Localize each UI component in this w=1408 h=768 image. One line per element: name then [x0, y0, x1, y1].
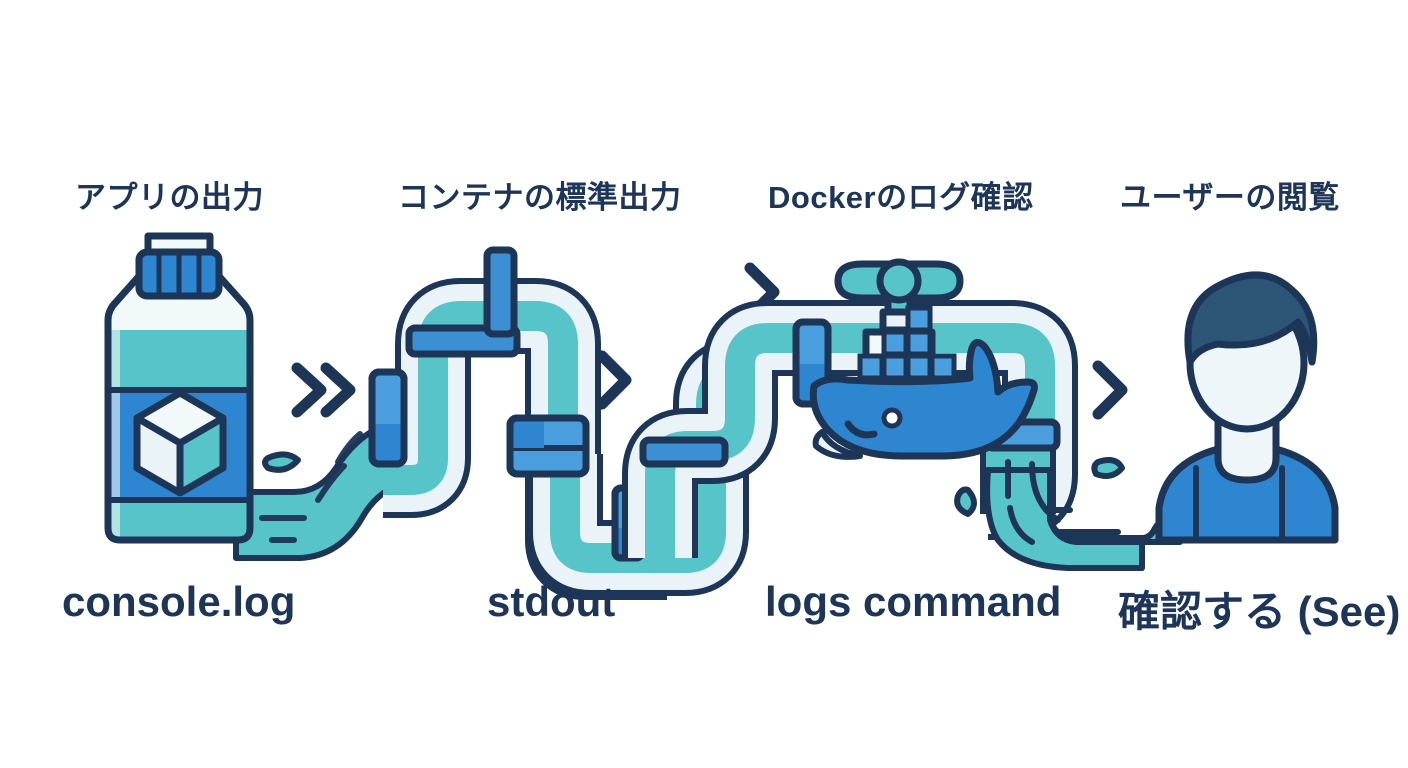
docker-whale-faucet-icon: [643, 262, 1180, 568]
bottle-cap-icon: [139, 252, 219, 296]
bottle-with-cube-icon: [100, 236, 388, 560]
pipe-joint: [644, 425, 724, 451]
diagram-canvas: アプリの出力 コンテナの標準出力 Dockerのログ確認 ユーザーの閲覧 con…: [0, 0, 1408, 768]
user-avatar-icon: [1159, 275, 1335, 540]
stage-bottom-label-stdout: stdout: [487, 578, 615, 626]
double-chevron-right-icon: [297, 368, 350, 412]
pipe-joint: [987, 422, 1057, 448]
stage-top-label-docker-logs: Dockerのログ確認: [768, 172, 1034, 217]
docker-whale-icon: [813, 342, 1034, 456]
water-stream-1: [236, 424, 388, 558]
stage-top-label-container-stdout: コンテナの標準出力: [398, 172, 682, 217]
faucet-handle-icon: [838, 262, 960, 366]
chevron-right-icon: [602, 356, 626, 404]
chevron-right-icon: [750, 268, 774, 316]
water-droplet-icon: [265, 454, 298, 469]
pipe-joint: [487, 250, 514, 334]
stage-top-label-app-output: アプリの出力: [75, 172, 264, 217]
stage-bottom-label-see: 確認する (See): [1118, 578, 1400, 639]
pipe-joint: [643, 440, 725, 464]
pipe-joint: [372, 372, 404, 464]
chevron-right-icon: [1098, 366, 1122, 414]
pipe-joint: [510, 418, 586, 474]
stage-bottom-label-logs-command: logs command: [765, 578, 1061, 626]
water-droplet-icon: [1094, 460, 1122, 476]
water-droplet-icon: [957, 490, 974, 514]
pipe-joint: [409, 328, 517, 354]
stage-top-label-user-view: ユーザーの閲覧: [1120, 172, 1340, 217]
stage-bottom-label-console-log: console.log: [62, 578, 295, 626]
pipes-icon: [372, 250, 769, 562]
water-stream-2: [957, 460, 1180, 568]
pipe-joint: [796, 322, 828, 404]
cube-logo-icon: [137, 393, 223, 493]
container-stack-icon: [860, 308, 954, 378]
diagram-artwork: [0, 0, 1408, 768]
pipe-joint: [615, 488, 642, 558]
